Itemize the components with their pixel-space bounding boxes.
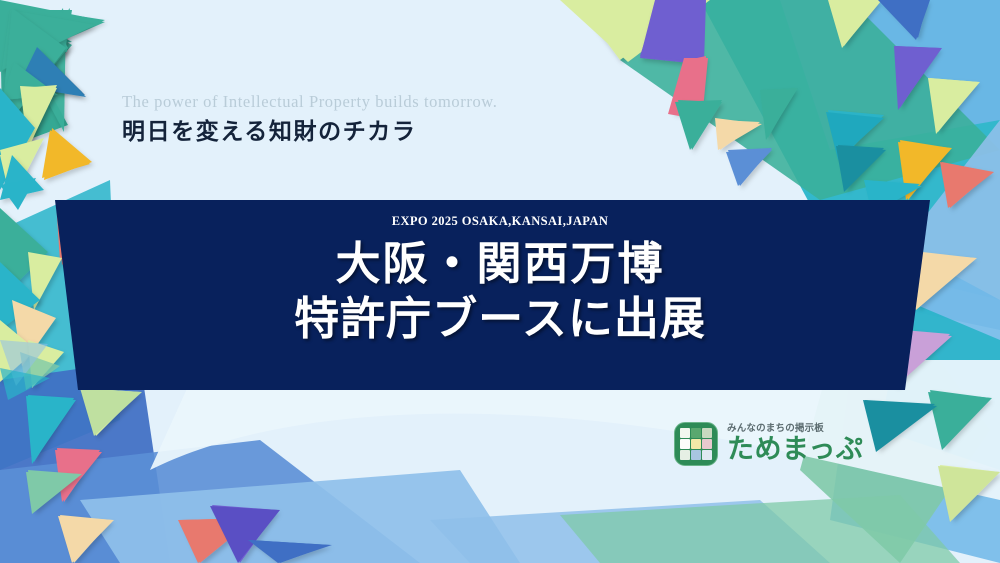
logo-tile-1 (691, 428, 701, 438)
logo-text-block: みんなのまちの掲示板 ためまっぷ (727, 424, 863, 464)
logo-name: ためまっぷ (727, 436, 863, 464)
bulletin-board-icon (674, 422, 718, 466)
banner-content: EXPO 2025 OSAKA,KANSAI,JAPAN 大阪・関西万博 特許庁… (0, 200, 1000, 392)
logo-tile-0 (680, 428, 690, 438)
poster-canvas: The power of Intellectual Property build… (0, 0, 1000, 563)
logo-tile-8 (702, 450, 712, 460)
logo-tile-6 (680, 450, 690, 460)
logo-tile-2 (702, 428, 712, 438)
banner-eyebrow: EXPO 2025 OSAKA,KANSAI,JAPAN (392, 214, 609, 229)
logo-tile-3 (680, 439, 690, 449)
logo-tile-4 (691, 439, 701, 449)
tagline-block: The power of Intellectual Property build… (122, 92, 497, 147)
logo-subtitle: みんなのまちの掲示板 (727, 424, 863, 434)
banner-title: 大阪・関西万博 特許庁ブースに出展 (294, 237, 706, 347)
tamemap-logo[interactable]: みんなのまちの掲示板 ためまっぷ (674, 422, 863, 466)
tagline-english: The power of Intellectual Property build… (122, 92, 497, 113)
banner-title-line1: 大阪・関西万博 (294, 237, 706, 292)
tagline-japanese: 明日を変える知財のチカラ (122, 117, 497, 147)
logo-tile-5 (702, 439, 712, 449)
logo-tile-7 (691, 450, 701, 460)
banner-title-line2: 特許庁ブースに出展 (294, 292, 706, 347)
